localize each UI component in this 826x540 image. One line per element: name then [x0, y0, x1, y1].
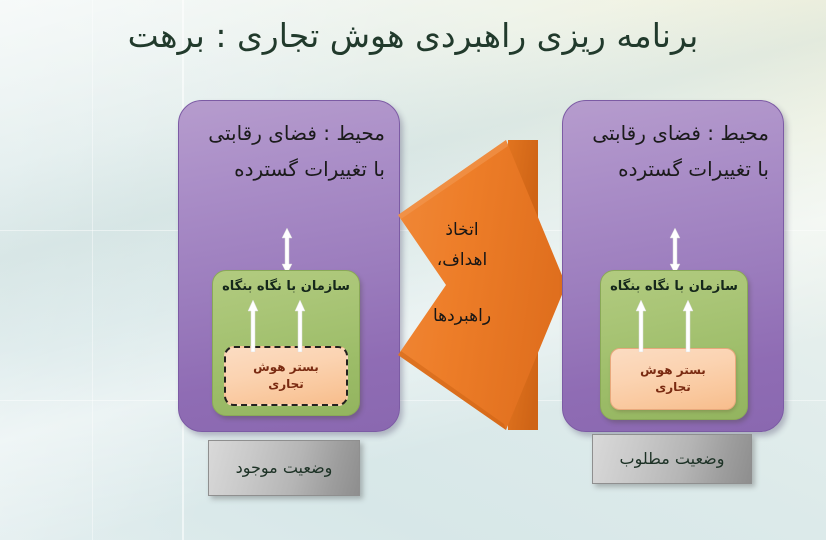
right-bi-platform-label: بستر هوش تجاری [640, 362, 706, 396]
right-panel-heading: محیط : فضای رقابتی با تغییرات گسترده [575, 115, 769, 187]
right-bi-platform-line2: تجاری [655, 380, 691, 394]
chevron-spacer [398, 275, 526, 301]
left-status-plate[interactable]: وضعیت موجود [208, 440, 360, 496]
right-status-label: وضعیت مطلوب [620, 448, 725, 470]
left-bi-platform-line1: بستر هوش [253, 360, 319, 374]
left-bi-platform-label: بستر هوش تجاری [253, 359, 319, 393]
left-panel-heading: محیط : فضای رقابتی با تغییرات گسترده [191, 115, 385, 187]
right-bi-platform-box[interactable]: بستر هوش تجاری [610, 348, 736, 410]
left-bi-platform-box[interactable]: بستر هوش تجاری [224, 346, 348, 406]
left-bi-platform-line2: تجاری [268, 377, 304, 391]
chevron-line-3: راهبردها [433, 306, 491, 326]
chevron-line-1: اتخاذ [445, 220, 478, 240]
page-title: برنامه ریزی راهبردی هوش تجاری : برهت [0, 14, 826, 58]
left-organization-label: سازمان با نگاه بنگاه [217, 277, 355, 296]
right-status-plate[interactable]: وضعیت مطلوب [592, 434, 752, 484]
slide-canvas: برنامه ریزی راهبردی هوش تجاری : برهت محی… [0, 0, 826, 540]
right-organization-label: سازمان با نگاه بنگاه [605, 277, 743, 296]
left-status-label: وضعیت موجود [236, 457, 333, 479]
right-bi-platform-line1: بستر هوش [640, 363, 706, 377]
chevron-text-block: اتخاذ اهداف، راهبردها [398, 215, 526, 331]
chevron-line-2: اهداف، [437, 250, 487, 270]
